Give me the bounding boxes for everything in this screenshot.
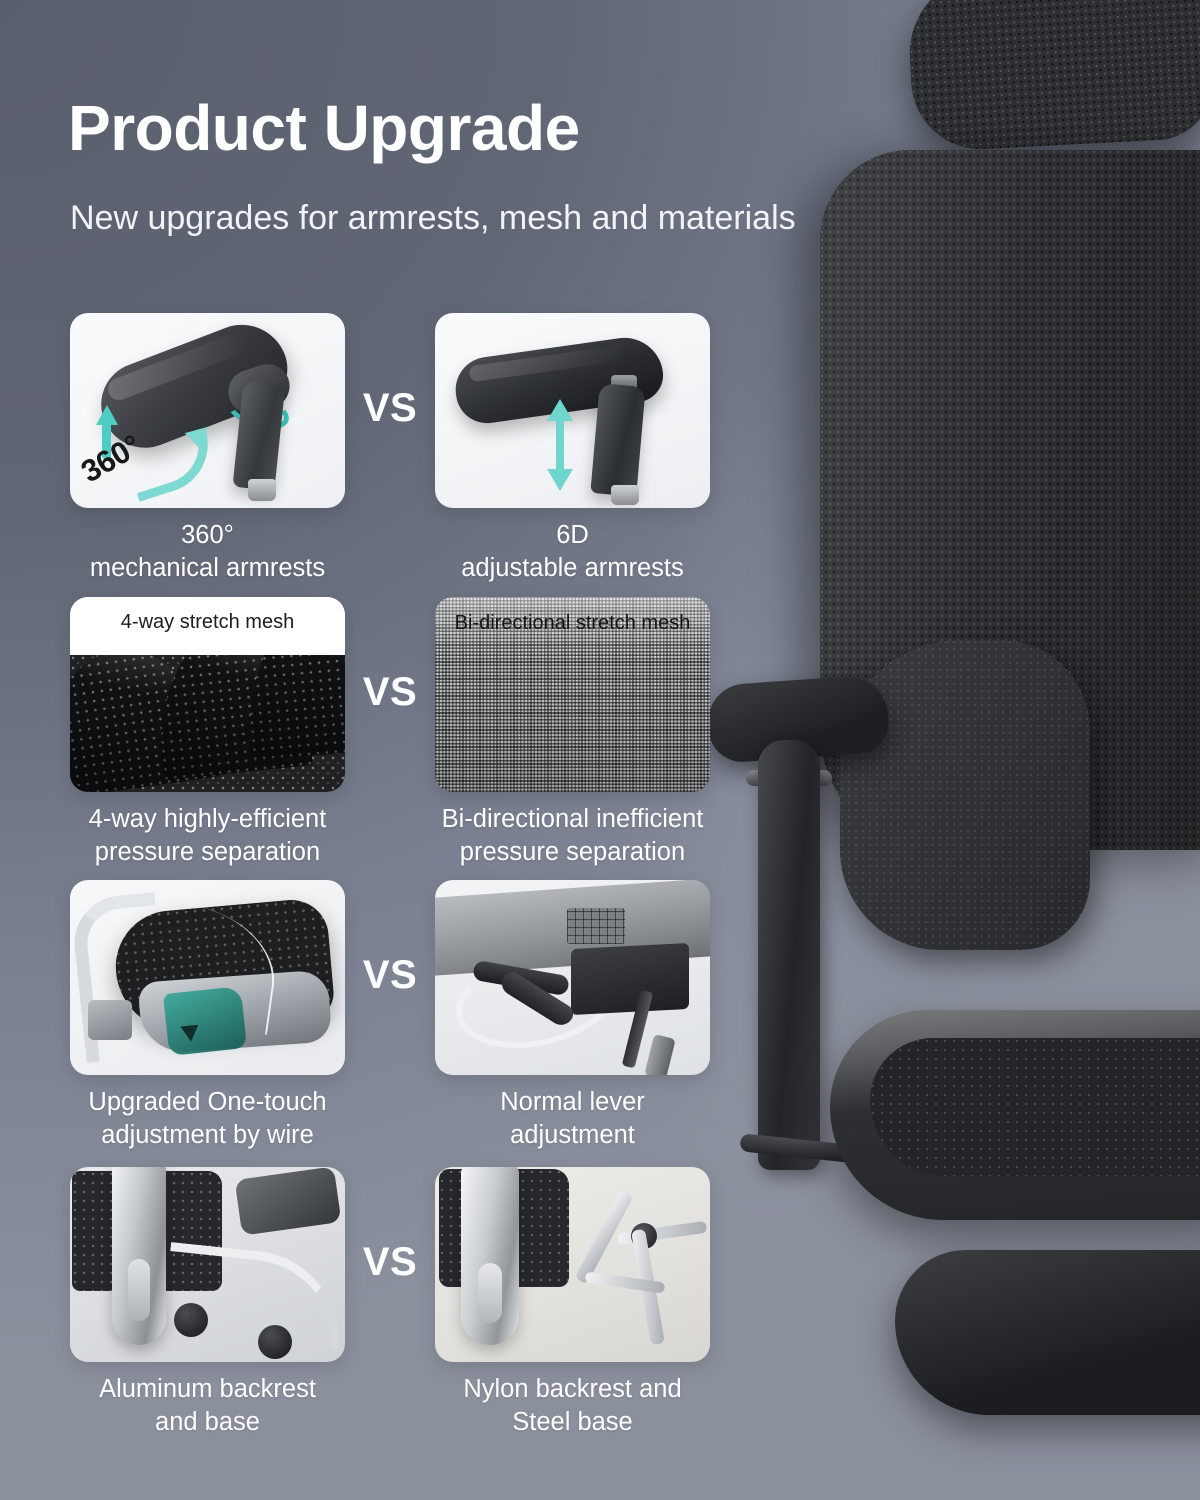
comparison-right-armrests: 6D adjustable armrests: [435, 313, 710, 584]
caption-nylon-material: Nylon backrest and Steel base: [435, 1373, 710, 1438]
armrest-foot-shape: [611, 485, 639, 505]
steel-base-rod-4: [585, 1271, 666, 1293]
card-6d-adjustable-armrest: [435, 313, 710, 508]
comparison-left-armrests: 360° 360° mechanical armrests: [70, 313, 345, 584]
comparison-right-mesh: Bi-directional stretch mesh Bi-direction…: [435, 597, 710, 868]
caption-one-touch-adjustment: Upgraded One-touch adjustment by wire: [70, 1086, 345, 1151]
caption-line-2: and base: [70, 1406, 345, 1439]
card-aluminum-backrest-base: [70, 1167, 345, 1362]
chair-footrest: [895, 1250, 1200, 1415]
card-normal-lever-adjustment: [435, 880, 710, 1075]
armrest-post-shape: [590, 383, 645, 497]
comparison-grid: 360° 360° mechanical armrests VS: [0, 0, 760, 1500]
chair-armrest-post: [758, 740, 820, 1170]
vs-divider-mesh: VS: [345, 670, 435, 715]
card-nylon-backrest-steel-base: [435, 1167, 710, 1362]
caster-wheel-1: [174, 1303, 208, 1337]
nylon-spine-shape: [461, 1167, 519, 1345]
caption-line-2: pressure separation: [70, 836, 345, 869]
vs-divider-armrests: VS: [345, 386, 435, 431]
card-4way-stretch-mesh: 4-way stretch mesh: [70, 597, 345, 792]
card-one-touch-wire-adjustment: [70, 880, 345, 1075]
caption-line-1: Normal lever adjustment: [435, 1086, 710, 1151]
caption-line-1: 360°: [70, 519, 345, 552]
seat-bracket-shape: [88, 1000, 132, 1040]
caption-360-armrest: 360° mechanical armrests: [70, 519, 345, 584]
chair-seat: [830, 1010, 1200, 1220]
comparison-left-materials: Aluminum backrest and base: [70, 1167, 345, 1438]
caption-line-1: 6D: [435, 519, 710, 552]
caption-bidirectional-mesh: Bi-directional inefficient pressure sepa…: [435, 803, 710, 868]
comparison-left-mesh: 4-way stretch mesh 4-way highly-efficien…: [70, 597, 345, 868]
caption-line-2: pressure separation: [435, 836, 710, 869]
comparison-left-adjustment: Upgraded One-touch adjustment by wire: [70, 880, 345, 1151]
aluminum-spine-shape: [112, 1167, 166, 1345]
caption-6d-armrest: 6D adjustable armrests: [435, 519, 710, 584]
caption-aluminum-material: Aluminum backrest and base: [70, 1373, 345, 1438]
chair-backrest: [820, 150, 1200, 850]
mechanism-box-shape: [571, 943, 689, 1015]
caster-wheel-2: [258, 1325, 292, 1359]
card-bidirectional-stretch-mesh: Bi-directional stretch mesh: [435, 597, 710, 792]
arrow-updown-icon: [547, 399, 573, 491]
chair-arm-shape: [235, 1167, 342, 1236]
caption-line-1: Upgraded One-touch: [70, 1086, 345, 1119]
chair-headrest: [906, 0, 1200, 153]
infographic-page: Product Upgrade New upgrades for armrest…: [0, 0, 1200, 1500]
caption-line-1: Nylon backrest and: [435, 1373, 710, 1406]
caption-line-2: adjustable armrests: [435, 552, 710, 585]
vs-divider-adjustment: VS: [345, 953, 435, 998]
caption-line-2: adjustment by wire: [70, 1119, 345, 1152]
chair-lumbar-support: [840, 640, 1090, 950]
mechanism-grid-shape: [567, 908, 625, 944]
gas-cylinder-body: [644, 1034, 676, 1075]
caption-line-1: Bi-directional inefficient: [435, 803, 710, 836]
overlay-label-bidirectional-stretch-mesh: Bi-directional stretch mesh: [435, 612, 710, 635]
caption-line-1: Aluminum backrest: [70, 1373, 345, 1406]
caption-line-2: mechanical armrests: [70, 552, 345, 585]
overlay-label-4way-stretch-mesh: 4-way stretch mesh: [70, 611, 345, 634]
caption-4way-mesh: 4-way highly-efficient pressure separati…: [70, 803, 345, 868]
caption-normal-lever: Normal lever adjustment: [435, 1086, 710, 1151]
comparison-right-materials: Nylon backrest and Steel base: [435, 1167, 710, 1438]
card-360-mechanical-armrest: 360°: [70, 313, 345, 508]
vs-divider-materials: VS: [345, 1240, 435, 1285]
caption-line-1: 4-way highly-efficient: [70, 803, 345, 836]
armrest-foot-shape: [248, 479, 276, 501]
caption-line-2: Steel base: [435, 1406, 710, 1439]
comparison-right-adjustment: Normal lever adjustment: [435, 880, 710, 1151]
